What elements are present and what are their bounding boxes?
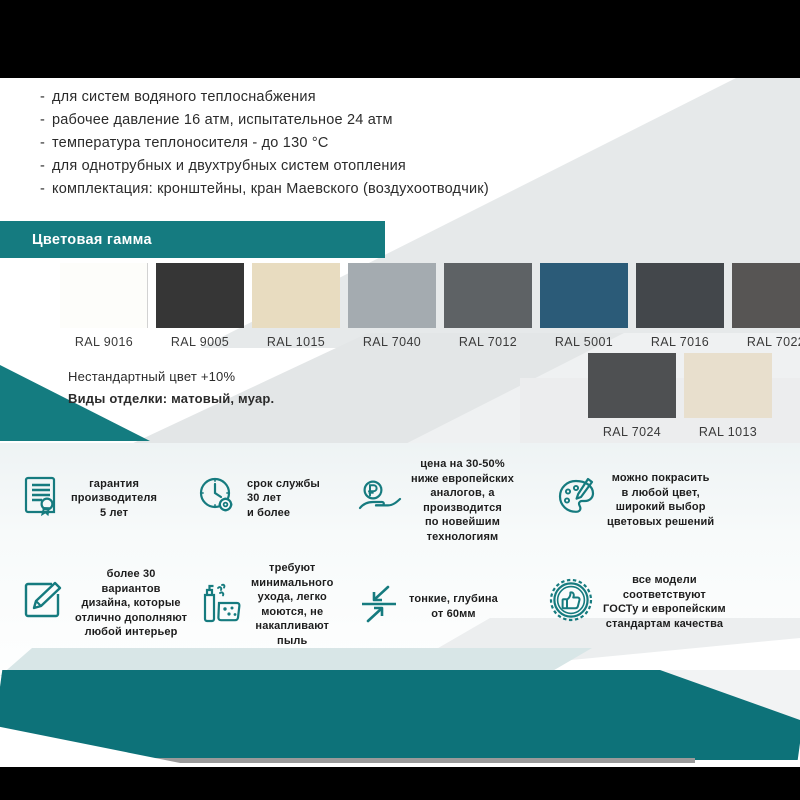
swatch-label: RAL 1015: [267, 335, 325, 349]
spec-item-text: комплектация: кронштейны, кран Маевского…: [52, 178, 489, 201]
feature-label-line: соответствуют: [603, 588, 726, 603]
feature-label-line: отлично дополняют: [75, 611, 187, 626]
feature-label-line: моются, не: [251, 605, 334, 620]
spec-item: - температура теплоносителя - до 130 °C: [40, 132, 660, 155]
feature-label-line: широкий выбор: [607, 500, 714, 515]
swatch-label: RAL 5001: [555, 335, 613, 349]
swatch-cell[interactable]: RAL 1015: [252, 263, 340, 349]
feature-item-standards: все моделисоответствуютГОСТу и европейск…: [548, 573, 726, 631]
bullet-dash: -: [40, 132, 52, 155]
swatch-color-chip[interactable]: [636, 263, 724, 328]
note-finish-types: Виды отделки: матовый, муар.: [68, 388, 274, 410]
swatch-cell[interactable]: RAL 1013: [684, 353, 772, 439]
swatch-label: RAL 1013: [699, 425, 757, 439]
feature-item-designs: более 30вариантовдизайна, которыеотлично…: [22, 567, 187, 640]
feature-label-line: накапливают: [251, 619, 334, 634]
swatch-color-chip[interactable]: [540, 263, 628, 328]
feature-label-line: дизайна, которые: [75, 596, 187, 611]
slide-canvas: - для систем водяного теплоснабжения - р…: [0, 78, 800, 767]
swatch-cell[interactable]: RAL 9005: [156, 263, 244, 349]
bullet-dash: -: [40, 86, 52, 109]
swatch-color-chip[interactable]: [444, 263, 532, 328]
palette-notes: Нестандартный цвет +10% Виды отделки: ма…: [68, 366, 274, 410]
note-custom-color: Нестандартный цвет +10%: [68, 366, 274, 388]
swatch-color-chip[interactable]: [684, 353, 772, 418]
feature-label-line: стандартам качества: [603, 617, 726, 632]
slide-page: - для систем водяного теплоснабжения - р…: [0, 0, 800, 800]
feature-label: требуютминимальногоухода, легкомоются, н…: [251, 561, 334, 648]
feature-item-paintable: можно покраситьв любой цвет,широкий выбо…: [556, 471, 714, 529]
band-shadow: [150, 758, 695, 763]
swatch-label: RAL 9005: [171, 335, 229, 349]
feature-item-price: цена на 30-50%ниже европейскиханалогов, …: [358, 457, 514, 544]
swatch-cell[interactable]: RAL 7022: [732, 263, 800, 349]
feature-label: можно покраситьв любой цвет,широкий выбо…: [607, 471, 714, 529]
swatch-color-chip[interactable]: [60, 263, 148, 328]
letterbox-bottom-bar: [0, 767, 800, 800]
feature-label: цена на 30-50%ниже европейскиханалогов, …: [411, 457, 514, 544]
swatch-color-chip[interactable]: [732, 263, 800, 328]
palette-row-secondary: RAL 7024RAL 1013: [588, 353, 772, 439]
feature-label: гарантияпроизводителя5 лет: [71, 477, 157, 521]
feature-label-line: требуют: [251, 561, 334, 576]
feature-label-line: от 60мм: [409, 607, 498, 622]
swatch-cell[interactable]: RAL 7024: [588, 353, 676, 439]
swatch-cell[interactable]: RAL 5001: [540, 263, 628, 349]
specification-list: - для систем водяного теплоснабжения - р…: [40, 86, 660, 201]
palette-brush-icon: [556, 477, 598, 524]
color-range-banner: Цветовая гамма: [0, 221, 385, 258]
spec-item: - для систем водяного теплоснабжения: [40, 86, 660, 109]
certificate-icon: [22, 475, 62, 522]
swatch-label: RAL 7024: [603, 425, 661, 439]
feature-label-line: ниже европейских: [411, 472, 514, 487]
feature-label-line: можно покрасить: [607, 471, 714, 486]
feature-label-line: по новейшим: [411, 515, 514, 530]
spec-item-text: температура теплоносителя - до 130 °C: [52, 132, 329, 155]
feature-label-line: цветовых решений: [607, 515, 714, 530]
feature-label: более 30вариантовдизайна, которыеотлично…: [75, 567, 187, 640]
feature-label-line: гарантия: [71, 477, 157, 492]
spec-item-text: для систем водяного теплоснабжения: [52, 86, 316, 109]
feature-item-warranty: гарантияпроизводителя5 лет: [22, 475, 157, 522]
swatch-label: RAL 7016: [651, 335, 709, 349]
feature-label-line: ГОСТу и европейским: [603, 602, 726, 617]
feature-label-line: пыль: [251, 634, 334, 649]
swatch-color-chip[interactable]: [348, 263, 436, 328]
feature-item-lifespan: срок службы30 лети более: [196, 475, 320, 522]
feature-label-line: срок службы: [247, 477, 320, 492]
depth-arrows-icon: [358, 583, 400, 630]
spec-item: - комплектация: кронштейны, кран Маевско…: [40, 178, 660, 201]
feature-label-line: производителя: [71, 491, 157, 506]
feature-label-line: аналогов, а: [411, 486, 514, 501]
swatch-label: RAL 9016: [75, 335, 133, 349]
swatch-label: RAL 7022: [747, 335, 800, 349]
feature-label-line: более 30: [75, 567, 187, 582]
features-row-2: более 30вариантовдизайна, которыеотлично…: [0, 553, 800, 653]
spec-item-text: рабочее давление 16 атм, испытательное 2…: [52, 109, 393, 132]
clock-gear-icon: [196, 475, 238, 522]
feature-label: тонкие, глубинаот 60мм: [409, 592, 498, 621]
feature-label-line: и более: [247, 506, 320, 521]
feature-label-line: все модели: [603, 573, 726, 588]
swatch-cell[interactable]: RAL 7012: [444, 263, 532, 349]
feature-label-line: тонкие, глубина: [409, 592, 498, 607]
swatch-cell[interactable]: RAL 7016: [636, 263, 724, 349]
feature-item-depth: тонкие, глубинаот 60мм: [358, 583, 498, 630]
bullet-dash: -: [40, 155, 52, 178]
features-row-1: гарантияпроизводителя5 лет срок службы30…: [0, 453, 800, 553]
feature-label-line: минимального: [251, 576, 334, 591]
spec-item: - для однотрубных и двухтрубных систем о…: [40, 155, 660, 178]
swatch-color-chip[interactable]: [588, 353, 676, 418]
spec-item-text: для однотрубных и двухтрубных систем ото…: [52, 155, 406, 178]
teal-band-bottom: [0, 670, 800, 760]
feature-label-line: в любой цвет,: [607, 486, 714, 501]
swatch-color-chip[interactable]: [252, 263, 340, 328]
swatch-cell[interactable]: RAL 9016: [60, 263, 148, 349]
bullet-dash: -: [40, 178, 52, 201]
feature-item-care: требуютминимальногоухода, легкомоются, н…: [196, 561, 334, 648]
hand-ruble-icon: [358, 479, 402, 522]
feature-label-line: 5 лет: [71, 506, 157, 521]
palette-row-primary: RAL 9016RAL 9005RAL 1015RAL 7040RAL 7012…: [60, 263, 800, 349]
feature-label-line: технологиям: [411, 530, 514, 545]
letterbox-top-bar: [0, 0, 800, 78]
swatch-color-chip[interactable]: [156, 263, 244, 328]
spec-item: - рабочее давление 16 атм, испытательное…: [40, 109, 660, 132]
feature-label-line: цена на 30-50%: [411, 457, 514, 472]
swatch-label: RAL 7040: [363, 335, 421, 349]
color-range-title: Цветовая гамма: [0, 232, 152, 248]
feature-label: срок службы30 лети более: [247, 477, 320, 521]
spray-sponge-icon: [196, 581, 242, 628]
feature-label: все моделисоответствуютГОСТу и европейск…: [603, 573, 726, 631]
swatch-label: RAL 7012: [459, 335, 517, 349]
feature-label-line: любой интерьер: [75, 625, 187, 640]
bullet-dash: -: [40, 109, 52, 132]
feature-label-line: ухода, легко: [251, 590, 334, 605]
quality-thumb-icon: [548, 577, 594, 628]
feature-label-line: производится: [411, 501, 514, 516]
pencil-design-icon: [22, 580, 66, 627]
swatch-cell[interactable]: RAL 7040: [348, 263, 436, 349]
feature-label-line: вариантов: [75, 582, 187, 597]
feature-label-line: 30 лет: [247, 491, 320, 506]
